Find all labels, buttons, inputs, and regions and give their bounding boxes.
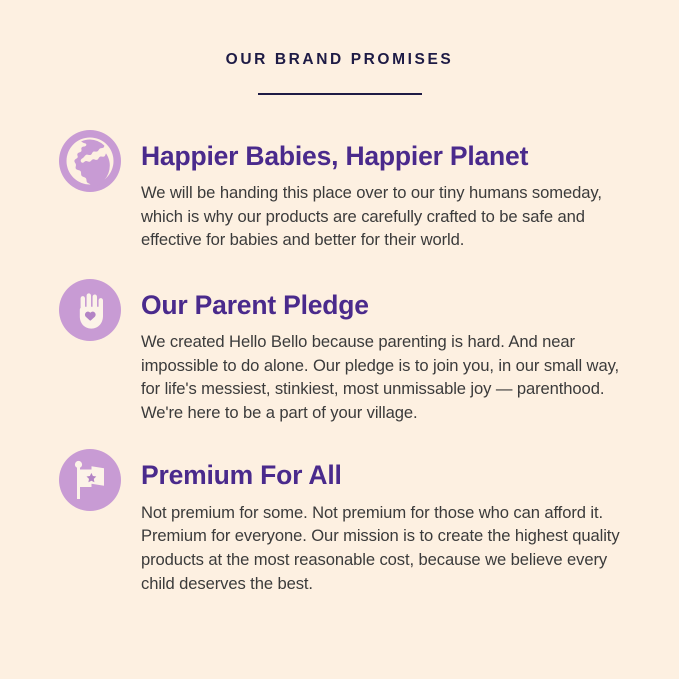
globe-icon xyxy=(58,129,122,193)
brand-promises-page: OUR BRAND PROMISES Happier Babies, Happi… xyxy=(0,0,679,679)
page-title: OUR BRAND PROMISES xyxy=(0,52,679,68)
promise-description: We created Hello Bello because parenting… xyxy=(141,330,639,424)
page-header: OUR BRAND PROMISES xyxy=(0,0,679,95)
list-item: Our Parent Pledge We created Hello Bello… xyxy=(58,278,639,425)
promise-content: Happier Babies, Happier Planet We will b… xyxy=(141,129,639,252)
promise-description: Not premium for some. Not premium for th… xyxy=(141,501,639,595)
promise-title: Our Parent Pledge xyxy=(141,278,639,320)
flag-star-icon xyxy=(58,448,122,512)
promise-title: Premium For All xyxy=(141,448,639,490)
promise-description: We will be handing this place over to ou… xyxy=(141,181,639,252)
promise-content: Premium For All Not premium for some. No… xyxy=(141,448,639,595)
promise-content: Our Parent Pledge We created Hello Bello… xyxy=(141,278,639,425)
promise-title: Happier Babies, Happier Planet xyxy=(141,129,639,171)
list-item: Happier Babies, Happier Planet We will b… xyxy=(58,129,639,252)
promises-list: Happier Babies, Happier Planet We will b… xyxy=(0,129,679,596)
header-divider xyxy=(258,93,422,95)
hand-heart-icon xyxy=(58,278,122,342)
list-item: Premium For All Not premium for some. No… xyxy=(58,448,639,595)
